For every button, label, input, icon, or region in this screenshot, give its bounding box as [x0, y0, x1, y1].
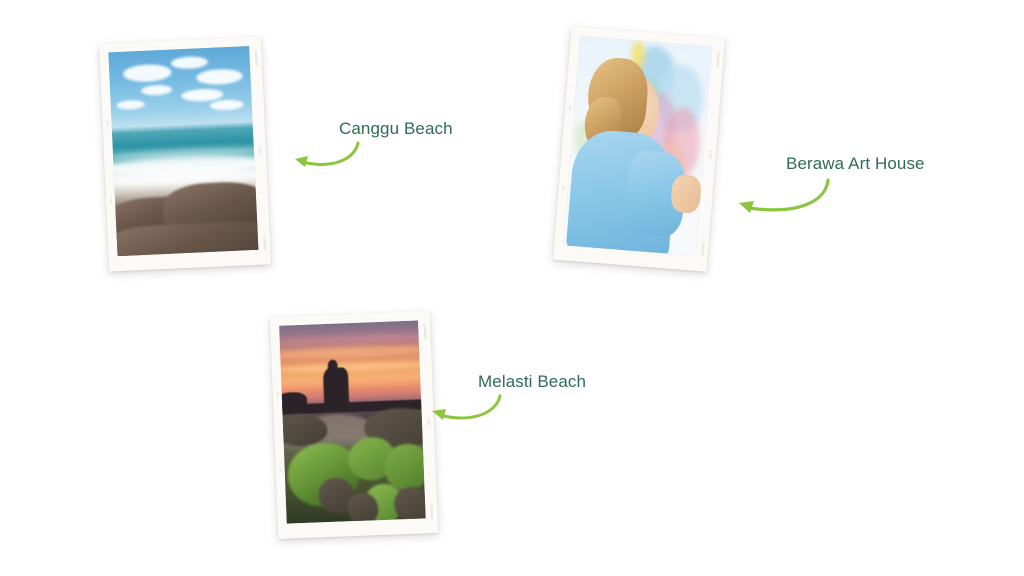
film-mark: 100 [708, 151, 713, 159]
photo-image-melasti [279, 320, 425, 523]
sunset-beach-illustration [279, 320, 425, 523]
slide-canvas: CANON 100 KODAK 100 100 [0, 0, 1024, 576]
film-mark: 100 [109, 198, 113, 203]
film-mark: CANON [254, 50, 259, 65]
film-mark: 100 [279, 467, 283, 472]
annotation-label-melasti: Melasti Beach [478, 373, 586, 390]
film-mark: 100 [105, 121, 109, 126]
film-mark: CANON [423, 324, 428, 339]
film-mark: KODAK [700, 242, 705, 257]
film-mark: 100 [568, 106, 572, 111]
beach-scene-illustration [108, 46, 258, 256]
curved-arrow-left-icon [286, 140, 362, 174]
film-mark: KODAK [430, 505, 435, 520]
film-mark: CANON [715, 52, 720, 68]
curved-arrow-left-icon [424, 393, 504, 427]
child-painting-illustration [563, 36, 712, 256]
photo-card-melasti[interactable]: CANON 100 KODAK 100 100 [270, 311, 438, 539]
curved-arrow-left-icon [727, 177, 833, 221]
annotation-label-berawa: Berawa Art House [786, 155, 925, 172]
annotation-label-canggu: Canggu Beach [339, 120, 453, 137]
photo-image-berawa [563, 36, 712, 256]
photo-card-canggu[interactable]: CANON 100 KODAK 100 100 [99, 36, 271, 271]
film-mark: 100 [276, 392, 280, 397]
film-mark: KODAK [262, 236, 267, 251]
film-mark: 100 [258, 147, 262, 155]
photo-image-canggu [108, 46, 258, 256]
film-mark: 100 [561, 185, 565, 190]
photo-card-berawa[interactable]: CANON 100 KODAK 100 100 [553, 26, 725, 272]
